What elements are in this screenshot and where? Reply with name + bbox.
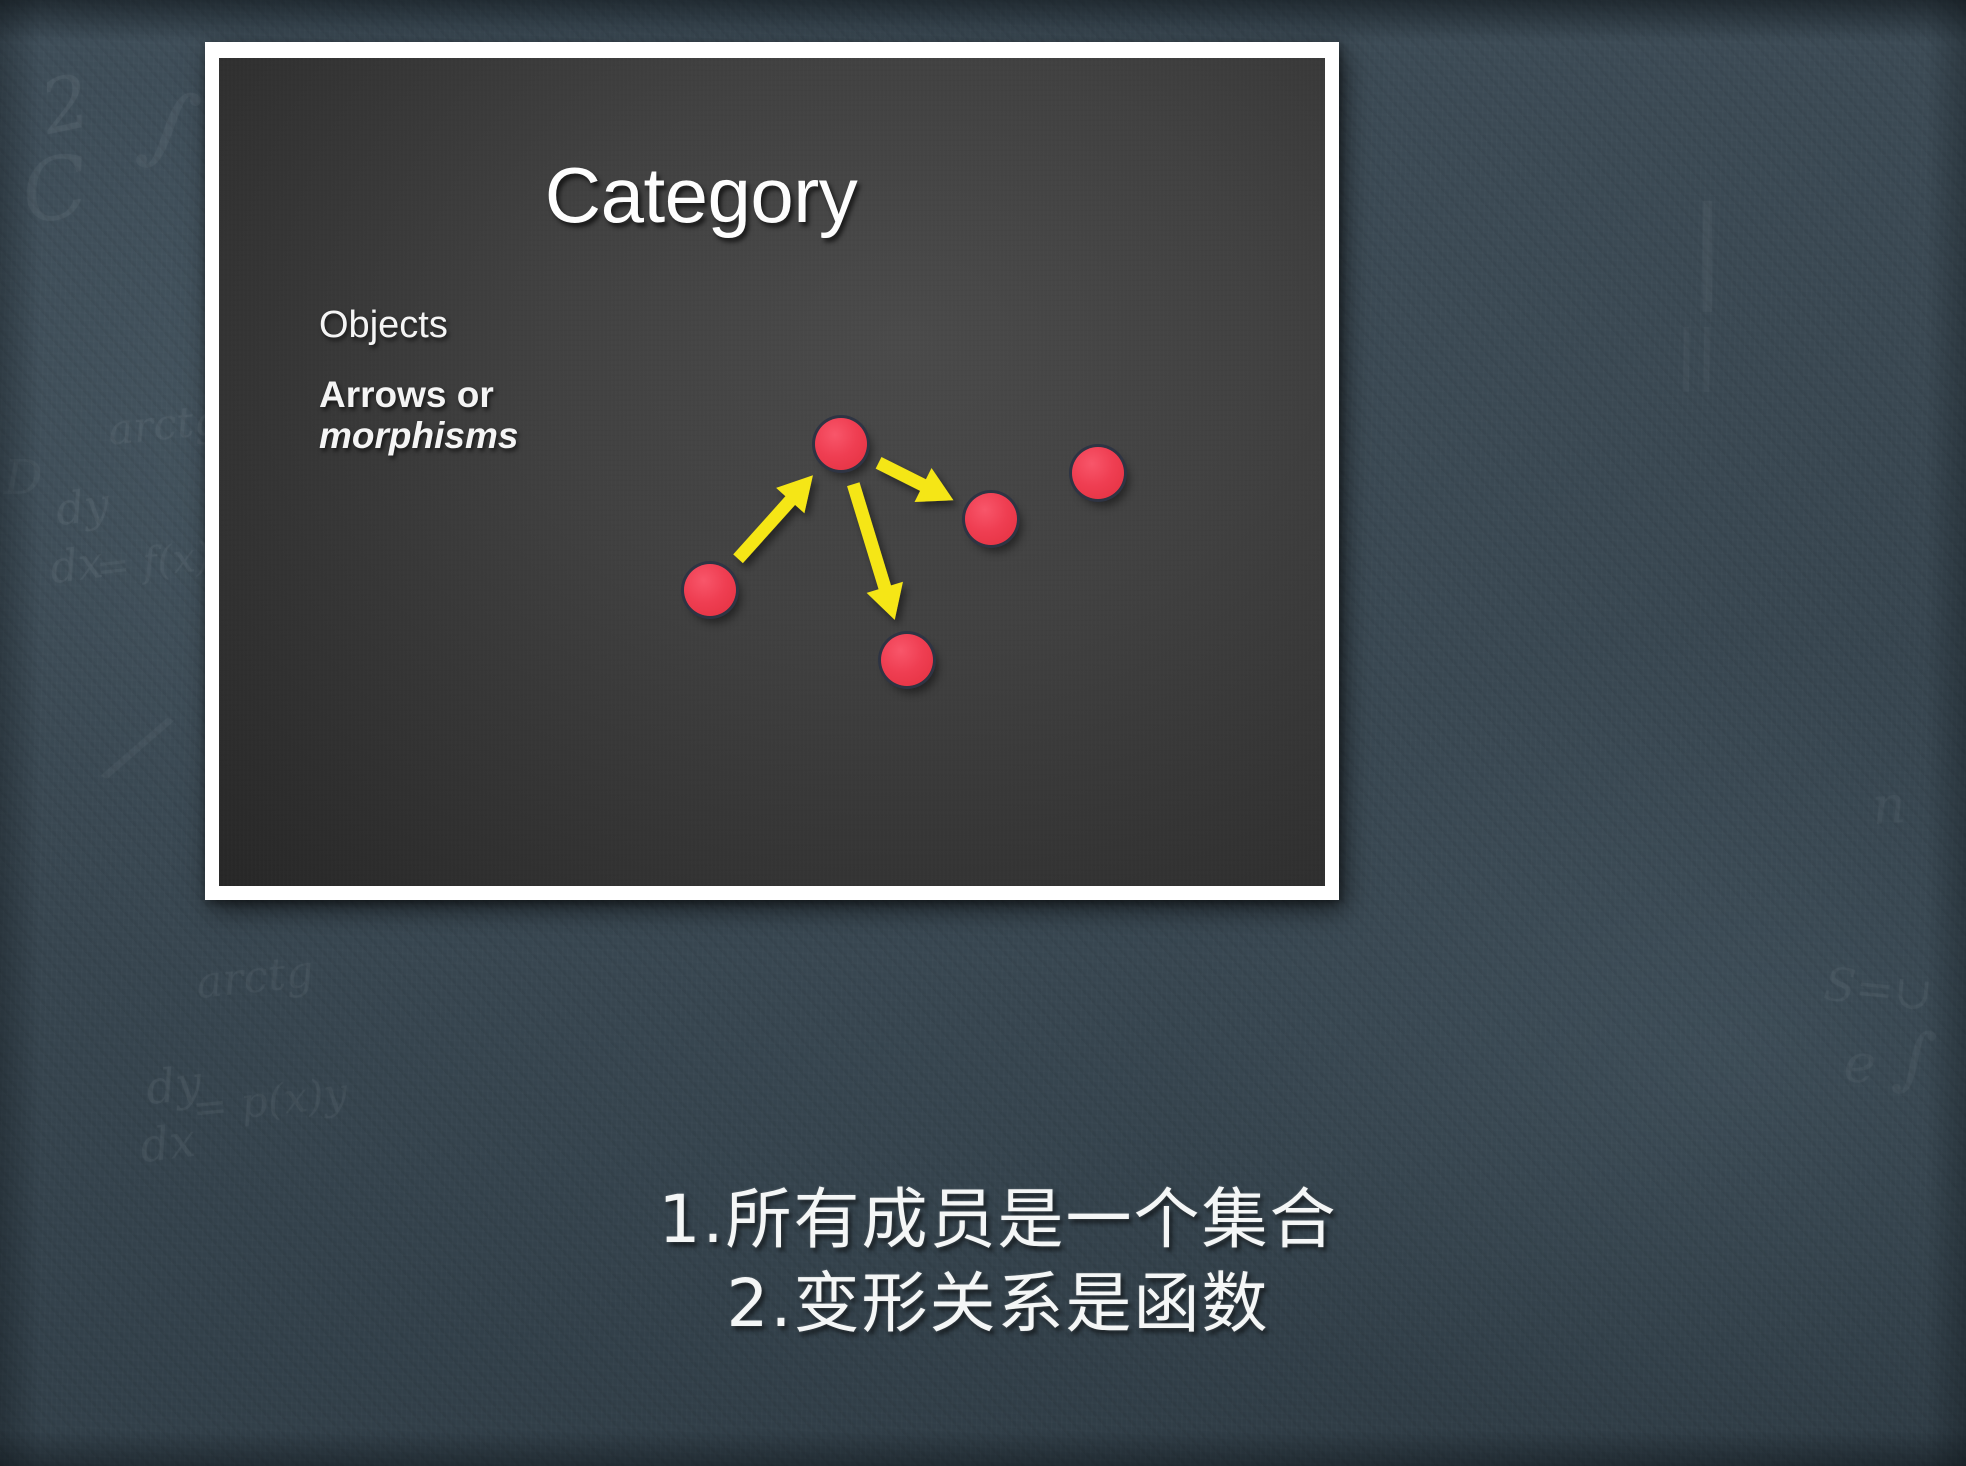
diagram-node (965, 493, 1017, 545)
chalk-scribble: D (4, 450, 42, 506)
chalk-scribble: ∫ (131, 67, 210, 184)
chalk-scribble: arctg (194, 946, 316, 1009)
morphism-arrow (853, 484, 903, 620)
chalk-scribble: ∣∣ (1676, 320, 1717, 402)
arrow-layer (738, 463, 953, 620)
diagram-node (881, 634, 933, 686)
chalk-scribble: dy (53, 479, 112, 536)
slide-frame: Category Objects Arrows or morphisms (205, 42, 1339, 900)
note-line: 1.所有成员是一个集合 (0, 1178, 1966, 1262)
label-morphisms: morphisms (319, 415, 518, 456)
chalk-scribble: 2 (34, 58, 98, 152)
diagram-node (684, 564, 736, 616)
chalk-scribble: ∫ (1889, 1013, 1941, 1102)
chalk-scribble: ∣ (1690, 190, 1725, 329)
morphism-arrow (879, 463, 954, 502)
chalkboard-background: 2C∫arctgdydx= f(x)gD∕arctgdydx= p(x)yS=∪… (0, 0, 1966, 1466)
chalk-scribble: dy (143, 1055, 205, 1115)
chalk-scribble: S=∪ (1821, 956, 1935, 1021)
chalk-scribble: dx (47, 537, 106, 594)
diagram-node (815, 418, 867, 470)
chalk-scribble: = p(x)y (190, 1068, 350, 1133)
page-title: Category (219, 150, 1325, 241)
label-objects: Objects (319, 304, 448, 347)
slide-canvas: Category Objects Arrows or morphisms (219, 58, 1325, 886)
chalk-scribble: ∕ (102, 688, 174, 804)
chinese-notes: 1.所有成员是一个集合2.变形关系是函数 (0, 1178, 1966, 1347)
note-line: 2.变形关系是函数 (0, 1262, 1966, 1346)
morphism-arrow (738, 475, 813, 558)
diagram-node (1072, 447, 1124, 499)
chalk-scribble: C (15, 136, 94, 244)
label-arrows: Arrows or morphisms (319, 374, 518, 457)
chalk-scribble: n (1870, 775, 1908, 837)
chalk-scribble: dx (137, 1113, 199, 1173)
label-arrows-line1: Arrows or (319, 374, 494, 415)
chalk-scribble: e (1842, 1031, 1878, 1096)
